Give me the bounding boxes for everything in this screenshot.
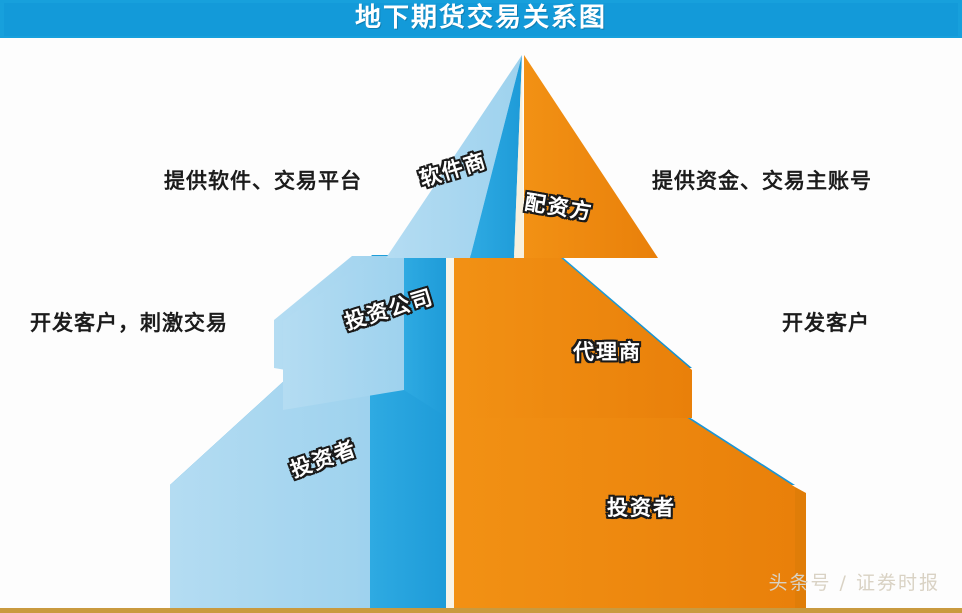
diagram-canvas: 地下期货交易关系图 <box>0 0 962 613</box>
bottom-tier-left-face-pale <box>170 370 370 613</box>
title-bar: 地下期货交易关系图 <box>0 0 962 38</box>
tier-label-bottom-right: 投资者 <box>607 492 676 522</box>
page-title: 地下期货交易关系图 <box>0 0 962 38</box>
middle-tier-left-face-pale-body <box>283 257 404 410</box>
annotation-top-right: 提供资金、交易主账号 <box>652 165 872 195</box>
annotation-top-left: 提供软件、交易平台 <box>164 165 362 195</box>
pyramid-tier-top <box>386 55 658 258</box>
bottom-rule-divider <box>0 608 962 613</box>
watermark-text: 头条号 / 证券时报 <box>769 568 940 595</box>
tier-label-middle-right: 代理商 <box>573 336 642 366</box>
annotation-middle-left: 开发客户，刺激交易 <box>30 307 228 337</box>
middle-tier-center-seam <box>446 255 454 418</box>
annotation-middle-right: 开发客户 <box>782 307 870 337</box>
top-tier-right-face <box>524 55 658 258</box>
